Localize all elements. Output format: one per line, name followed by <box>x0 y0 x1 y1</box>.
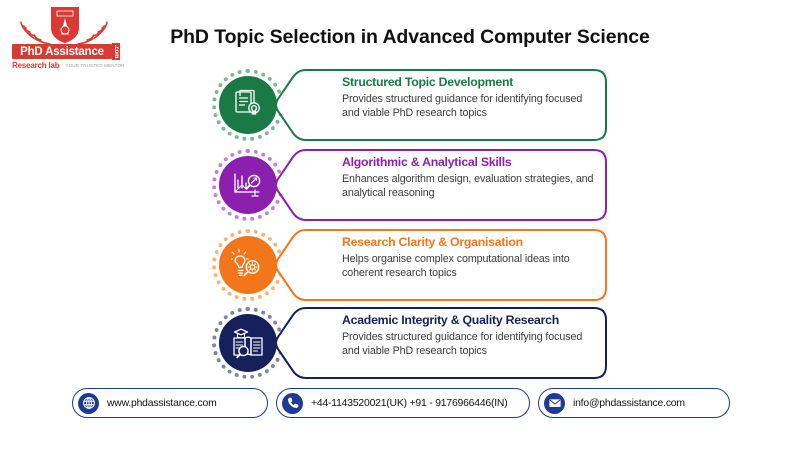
wreath-left-icon <box>18 20 52 46</box>
book-graduation-magnifier-icon <box>219 314 277 372</box>
benefit-card: Research Clarity & Organisation Helps or… <box>210 226 610 304</box>
brand-logo: PhD Assistance .com Research lab YOUR TR… <box>8 6 120 72</box>
contact-footer: www.phdassistance.com +44-1143520021(UK)… <box>0 388 800 424</box>
website-label: www.phdassistance.com <box>107 398 217 409</box>
page-title: PhD Topic Selection in Advanced Computer… <box>130 26 690 49</box>
phone-label: +44-1143520021(UK) +91 - 9176966446(IN) <box>311 398 508 409</box>
documents-lightbulb-icon <box>219 76 277 134</box>
card-description: Provides structured guidance for identif… <box>342 330 594 358</box>
card-description: Helps organise complex computational ide… <box>342 252 594 280</box>
bar-chart-magnifier-icon <box>219 156 277 214</box>
card-banner: Algorithmic & Analytical Skills Enhances… <box>272 146 610 224</box>
email-label: info@phdassistance.com <box>573 398 685 409</box>
header: PhD Assistance .com Research lab YOUR TR… <box>0 0 800 70</box>
globe-icon <box>78 393 99 414</box>
envelope-icon <box>544 393 565 414</box>
wreath-right-icon <box>76 20 110 46</box>
phone-icon <box>282 393 303 414</box>
card-title: Algorithmic & Analytical Skills <box>342 154 594 170</box>
card-banner: Structured Topic Development Provides st… <box>272 66 610 144</box>
card-text: Structured Topic Development Provides st… <box>342 74 594 120</box>
card-banner: Academic Integrity & Quality Research Pr… <box>272 304 610 382</box>
benefit-card: Academic Integrity & Quality Research Pr… <box>210 304 610 382</box>
benefit-card: Structured Topic Development Provides st… <box>210 66 610 144</box>
card-title: Academic Integrity & Quality Research <box>342 312 594 328</box>
lightbulb-magnifier-icon <box>219 236 277 294</box>
contact-phone[interactable]: +44-1143520021(UK) +91 - 9176966446(IN) <box>276 388 530 418</box>
logo-dotcom-text: .com <box>112 43 120 60</box>
card-text: Academic Integrity & Quality Research Pr… <box>342 312 594 358</box>
contact-email[interactable]: info@phdassistance.com <box>538 388 730 418</box>
logo-name-text: PhD Assistance <box>20 46 104 58</box>
benefit-card-list: Structured Topic Development Provides st… <box>0 66 800 386</box>
benefit-card: Algorithmic & Analytical Skills Enhances… <box>210 146 610 224</box>
contact-website[interactable]: www.phdassistance.com <box>72 388 268 418</box>
card-text: Algorithmic & Analytical Skills Enhances… <box>342 154 594 200</box>
card-description: Enhances algorithm design, evaluation st… <box>342 172 594 200</box>
card-title: Research Clarity & Organisation <box>342 234 594 250</box>
card-banner: Research Clarity & Organisation Helps or… <box>272 226 610 304</box>
card-description: Provides structured guidance for identif… <box>342 92 594 120</box>
logo-name-bar: PhD Assistance <box>12 44 112 59</box>
card-title: Structured Topic Development <box>342 74 594 90</box>
card-text: Research Clarity & Organisation Helps or… <box>342 234 594 280</box>
